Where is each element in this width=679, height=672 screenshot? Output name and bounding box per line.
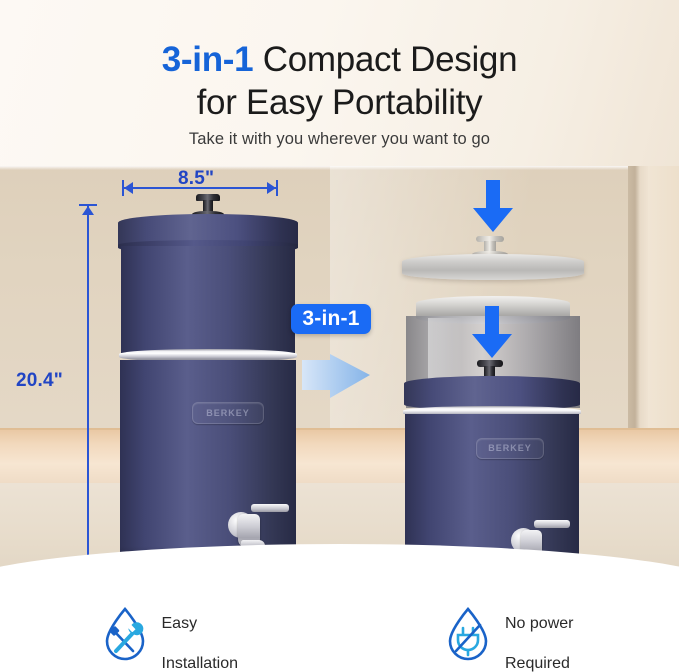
- feature-line2: Required: [505, 655, 570, 672]
- page-subtitle: Take it with you wherever you want to go: [0, 130, 679, 149]
- height-arrow-head-top: [82, 206, 94, 215]
- width-arrow-head-right: [267, 182, 276, 194]
- feature-no-power-required: No power Required: [340, 596, 679, 672]
- lower-chamber: [120, 360, 296, 568]
- assembled-water-filter: BERKEY: [118, 194, 298, 586]
- feature-label: Easy Installation: [162, 594, 239, 672]
- width-dimension-line: [124, 187, 276, 189]
- title-line2: for Easy Portability: [197, 83, 483, 122]
- feature-label: No power Required: [505, 594, 573, 672]
- water-drop-tools-icon: [102, 606, 148, 662]
- water-drop-no-power-icon: [445, 606, 491, 662]
- transform-arrow-icon: [300, 352, 372, 402]
- feature-line2: Installation: [162, 655, 239, 672]
- width-arrow-head-left: [124, 182, 133, 194]
- assembly-down-arrow-icon: [471, 180, 515, 234]
- height-dimension-label: 20.4": [16, 370, 63, 392]
- brand-emboss: BERKEY: [476, 438, 544, 459]
- feature-easy-installation: Easy Installation: [0, 596, 340, 672]
- width-dimension-tick-right: [276, 180, 278, 196]
- title-rest: Compact Design: [253, 40, 517, 79]
- title-highlight: 3-in-1: [162, 40, 254, 79]
- cabinet-face: [648, 166, 679, 466]
- spigot-lever[interactable]: [534, 520, 570, 528]
- brand-emboss: BERKEY: [192, 402, 264, 424]
- upper-chamber: [121, 246, 295, 354]
- cabinet-edge: [628, 166, 648, 466]
- exploded-lid: [402, 254, 584, 280]
- feature-line1: Easy: [162, 615, 198, 632]
- feature-list: Easy Installation No power Required: [0, 596, 679, 672]
- three-in-one-badge: 3-in-1: [291, 304, 371, 334]
- feature-line1: No power: [505, 615, 573, 632]
- spigot-lever[interactable]: [251, 504, 289, 512]
- height-dimension-line: [87, 205, 89, 574]
- base-lid: [404, 376, 580, 410]
- assembly-down-arrow-icon: [470, 306, 514, 360]
- page-title: 3-in-1 Compact Design for Easy Portabili…: [0, 38, 679, 124]
- header-banner: 3-in-1 Compact Design for Easy Portabili…: [0, 0, 679, 166]
- exploded-water-filter: BERKEY: [398, 180, 588, 588]
- infographic-page: 3-in-1 Compact Design for Easy Portabili…: [0, 0, 679, 672]
